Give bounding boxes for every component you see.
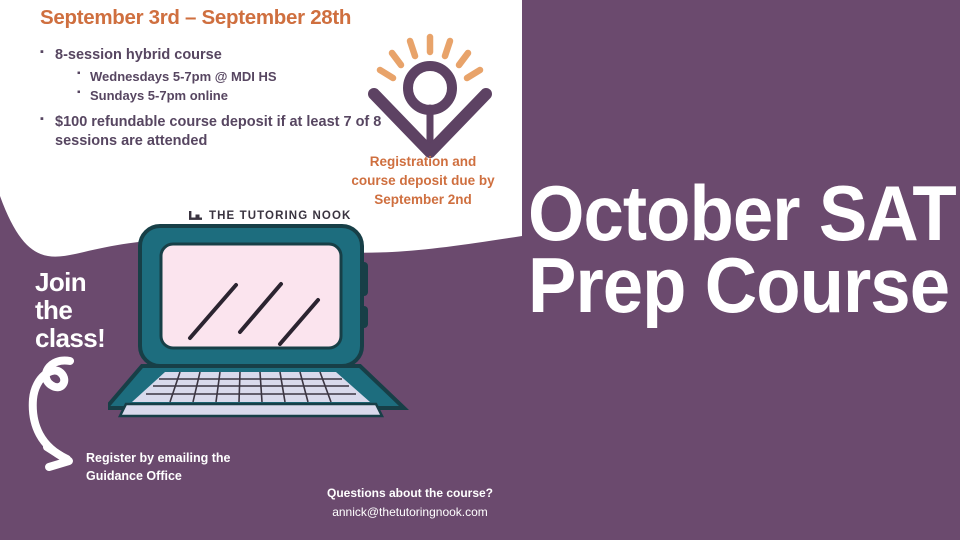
tutoring-nook-mark-icon [189,209,202,222]
brand-lockup: THE TUTORING NOOK [189,209,351,222]
title-line-2: Prep Course [528,250,956,322]
list-item: Wednesdays 5-7pm @ MDI HS [77,68,390,87]
flower-sunburst-icon [362,32,498,158]
register-instructions: Register by emailing the Guidance Office [86,449,230,485]
course-schedule-sublist: Wednesdays 5-7pm @ MDI HS Sundays 5-7pm … [77,68,390,106]
questions-prompt: Questions about the course? [300,484,520,503]
join-line-1: Join [35,268,105,296]
course-details-list: 8-session hybrid course Wednesdays 5-7pm… [40,46,390,152]
list-item: $100 refundable course deposit if at lea… [40,113,390,152]
laptop-illustration [108,222,414,422]
list-item: Sundays 5-7pm online [77,87,390,106]
register-line-1: Register by emailing the [86,449,230,467]
register-line-2: Guidance Office [86,467,230,485]
bullet-text: 8-session hybrid course [55,47,222,63]
join-line-3: class! [35,324,105,352]
sat-prep-course-flyer: September 3rd – September 28th 8-session… [0,0,960,540]
date-range-heading: September 3rd – September 28th [40,6,390,30]
page-title: October SAT Prep Course [528,178,956,322]
contact-email[interactable]: annick@thetutoringnook.com [300,503,520,522]
reg-note-line-1: Registration and [325,152,521,171]
join-the-class-text: Join the class! [35,268,105,352]
reg-note-line-3: September 2nd [325,190,521,209]
course-details-block: September 3rd – September 28th 8-session… [40,6,390,156]
registration-deadline-note: Registration and course deposit due by S… [325,152,521,209]
brand-name: THE TUTORING NOOK [209,210,351,222]
join-line-2: the [35,296,105,324]
questions-contact-block: Questions about the course? annick@thetu… [300,484,520,521]
reg-note-line-2: course deposit due by [325,171,521,190]
list-item: 8-session hybrid course Wednesdays 5-7pm… [40,46,390,106]
